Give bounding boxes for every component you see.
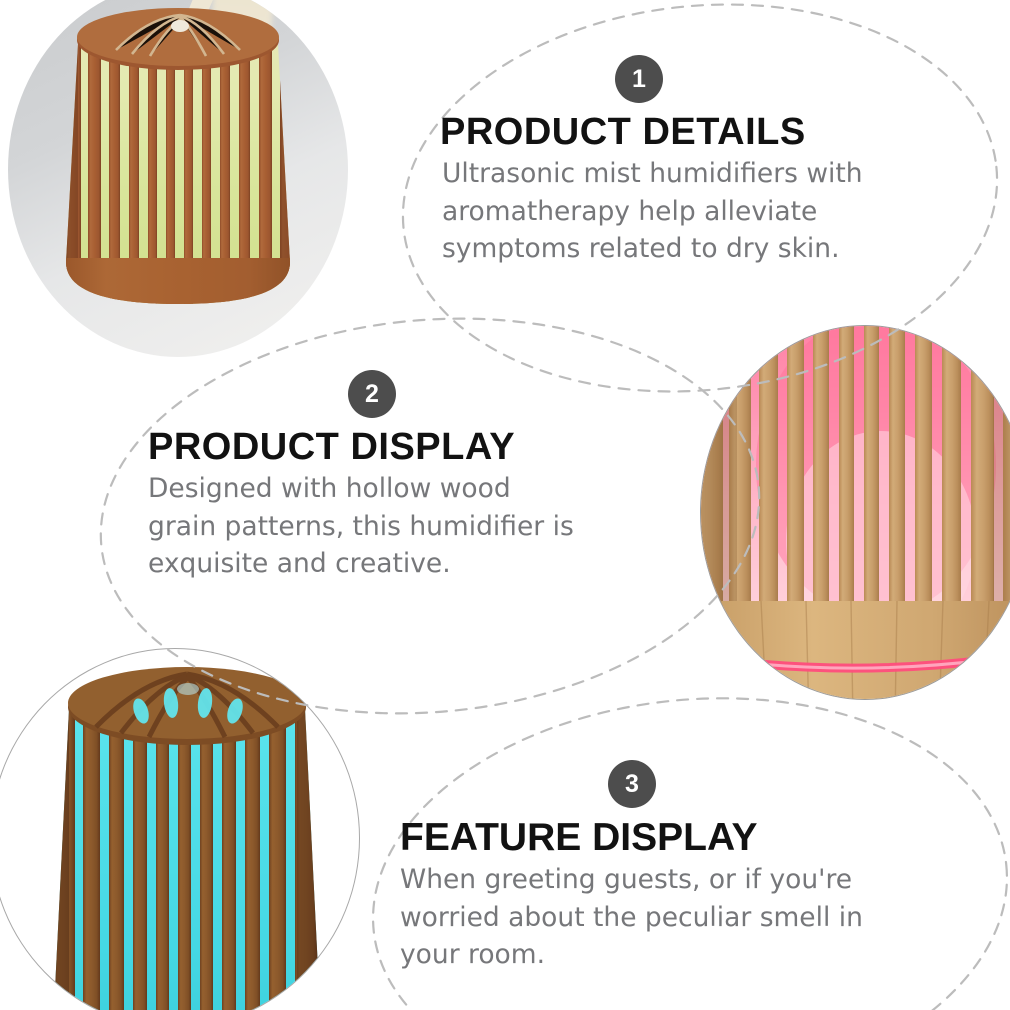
section-1-line-2: aromatherapy help alleviate (442, 193, 940, 231)
humidifier-pink-illustration (701, 326, 1010, 700)
section-title-2: PRODUCT DISPLAY (148, 428, 668, 468)
section-title-3: FEATURE DISPLAY (400, 818, 920, 859)
humidifier-green-illustration (8, 0, 348, 357)
section-product-display: 2 PRODUCT DISPLAY Designed with hollow w… (148, 370, 668, 583)
product-photo-pink (700, 325, 1010, 700)
step-badge-2: 2 (348, 370, 396, 418)
section-title-1: PRODUCT DETAILS (440, 113, 940, 153)
section-body-2: Designed with hollow wood grain patterns… (148, 470, 668, 583)
section-2-line-3: exquisite and creative. (148, 545, 668, 583)
product-photo-green (8, 0, 348, 357)
step-badge-3: 3 (608, 760, 656, 808)
step-badge-1: 1 (615, 55, 663, 103)
section-3-line-3: your room. (400, 936, 920, 974)
section-body-3: When greeting guests, or if you're worri… (400, 861, 920, 974)
section-feature-display: 3 FEATURE DISPLAY When greeting guests, … (400, 760, 920, 974)
product-photo-cyan (0, 648, 360, 1010)
section-1-line-3: symptoms related to dry skin. (442, 230, 940, 268)
section-1-line-1: Ultrasonic mist humidifiers with (442, 155, 940, 193)
humidifier-cyan-illustration (0, 649, 360, 1010)
section-product-details: 1 PRODUCT DETAILS Ultrasonic mist humidi… (440, 55, 940, 268)
section-2-line-1: Designed with hollow wood (148, 470, 668, 508)
section-2-line-2: grain patterns, this humidifier is (148, 508, 668, 546)
infographic-page: 1 PRODUCT DETAILS Ultrasonic mist humidi… (0, 0, 1010, 1010)
section-body-1: Ultrasonic mist humidifiers with aromath… (442, 155, 940, 268)
section-3-line-2: worried about the peculiar smell in (400, 899, 920, 937)
section-3-line-1: When greeting guests, or if you're (400, 861, 920, 899)
